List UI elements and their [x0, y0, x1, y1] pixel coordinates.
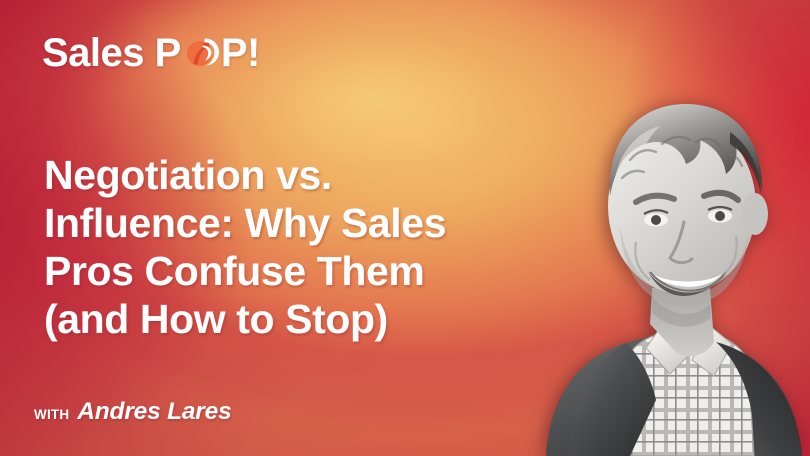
- logo-text-left: Sales P: [42, 33, 181, 73]
- byline-prefix: WITH: [34, 407, 69, 422]
- title-line-2: Influence: Why Sales: [44, 199, 524, 247]
- logo-text-right: P!: [221, 33, 260, 73]
- pop-swoosh-arrow-logo-icon: [182, 32, 222, 72]
- title-line-3: Pros Confuse Them: [44, 247, 524, 295]
- sales-pop-logo[interactable]: Sales P P!: [42, 26, 260, 73]
- episode-title: Negotiation vs. Influence: Why Sales Pro…: [44, 151, 524, 343]
- guest-name: Andres Lares: [77, 398, 231, 426]
- title-line-4: (and How to Stop): [44, 295, 524, 343]
- guest-portrait: [510, 56, 810, 456]
- video-thumbnail: Sales P P! Negotiation vs. Influence: Wh…: [0, 0, 810, 456]
- guest-byline: WITH Andres Lares: [34, 398, 232, 426]
- title-line-1: Negotiation vs.: [44, 151, 524, 199]
